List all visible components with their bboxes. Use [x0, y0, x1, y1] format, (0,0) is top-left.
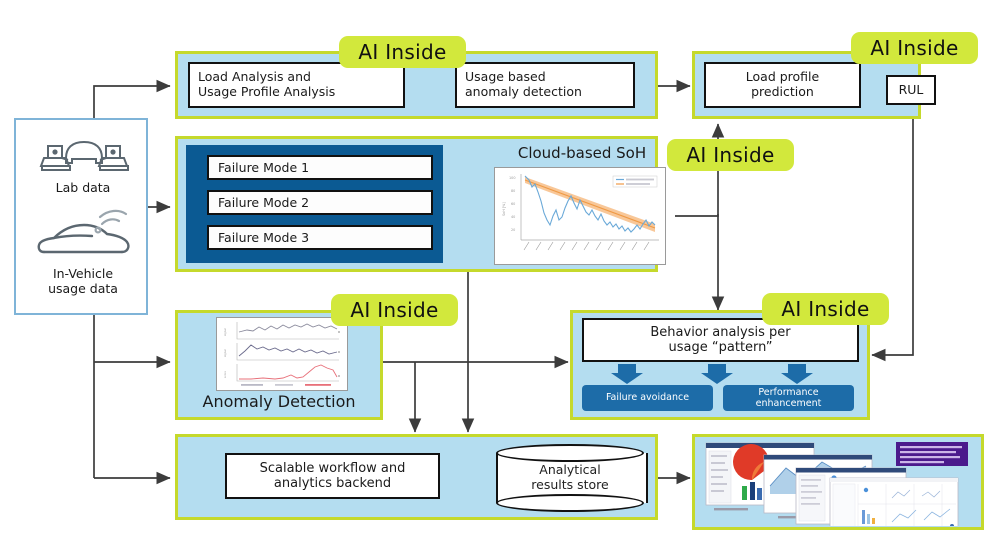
load-analysis-box[interactable]: Load Analysis and Usage Profile Analysis [188, 62, 405, 108]
anomaly-detection-title: Anomaly Detection [175, 392, 383, 411]
failure-mode-2[interactable]: Failure Mode 2 [207, 190, 433, 215]
ai-inside-badge-behavior: AI Inside [762, 293, 889, 325]
svg-text:signal: signal [223, 328, 227, 336]
svg-text:100: 100 [509, 176, 515, 180]
svg-text:40: 40 [511, 215, 515, 219]
line-soh-right [675, 214, 718, 216]
failure-avoidance-pill[interactable]: Failure avoidance [582, 385, 713, 411]
analytical-results-store[interactable]: Analytical results store [496, 444, 644, 512]
ai-inside-badge-anomaly: AI Inside [331, 294, 458, 326]
failure-mode-1[interactable]: Failure Mode 1 [207, 155, 433, 180]
anomaly-detection-chart[interactable]: signal signal score [216, 317, 348, 391]
performance-enhancement-pill[interactable]: Performance enhancement [723, 385, 854, 411]
dashboard-thumbnails[interactable] [700, 438, 976, 526]
dashboard-thumbnail-4 [830, 478, 958, 526]
arrow-source-to-load-analysis [94, 86, 170, 118]
connected-car-icon [34, 208, 134, 264]
lab-test-bench-icon [36, 136, 132, 178]
behavior-down-arrows [596, 364, 846, 384]
in-vehicle-usage-data-label: In-Vehicle usage data [16, 266, 150, 297]
data-sources-panel: Lab data In-Vehicle usage data [14, 118, 148, 315]
lab-data-label: Lab data [16, 180, 150, 195]
ai-inside-badge-load-analysis: AI Inside [339, 36, 466, 68]
svg-text:SoH [%]: SoH [%] [502, 202, 506, 216]
analytical-results-store-label: Analytical results store [496, 444, 644, 512]
cloud-based-soh-title: Cloud-based SoH [487, 144, 677, 162]
load-profile-prediction-box[interactable]: Load profile prediction [704, 62, 861, 108]
failure-mode-3[interactable]: Failure Mode 3 [207, 225, 433, 250]
usage-anomaly-detection-box[interactable]: Usage based anomaly detection [455, 62, 635, 108]
cloud-soh-chart[interactable]: 10080 6040 20 SoH [%] [494, 167, 666, 265]
svg-text:60: 60 [511, 202, 515, 206]
scalable-workflow-box[interactable]: Scalable workflow and analytics backend [225, 453, 440, 499]
svg-text:score: score [224, 371, 227, 378]
diagram-canvas: Lab data In-Vehicle usage data Load Anal… [0, 0, 1000, 544]
rul-box[interactable]: RUL [886, 75, 936, 105]
dashboard-note-card [896, 442, 968, 466]
svg-text:80: 80 [511, 189, 515, 193]
svg-text:signal: signal [223, 349, 227, 357]
ai-inside-badge-load-profile: AI Inside [851, 32, 978, 64]
ai-inside-badge-cloud-soh: AI Inside [667, 139, 794, 171]
svg-text:20: 20 [511, 228, 515, 232]
